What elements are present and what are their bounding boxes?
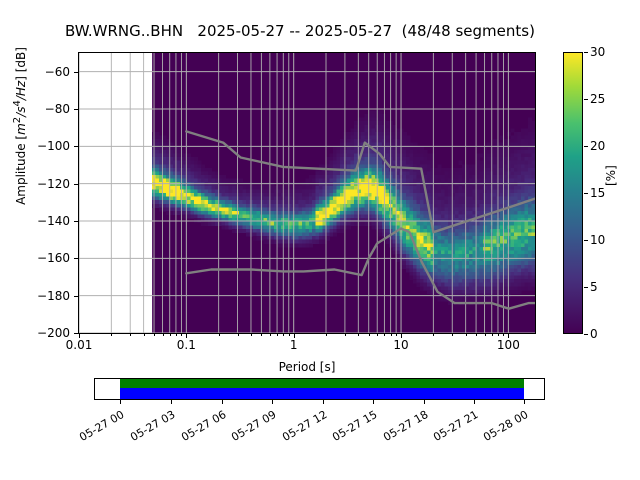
x-tick-mark	[181, 334, 182, 336]
x-tick-label: 1	[290, 338, 298, 352]
x-tick-mark	[476, 334, 477, 336]
y-tick-mark	[74, 72, 78, 73]
timeline-tick-mark	[272, 400, 273, 404]
x-tick-label: 10	[393, 338, 408, 352]
colorbar-tick-mark	[584, 52, 588, 53]
timeline-tick-mark	[424, 400, 425, 404]
colorbar-tick-label: 25	[590, 92, 605, 106]
timeline-tick-mark	[524, 400, 525, 404]
x-tick-label: 100	[497, 338, 520, 352]
x-tick-mark	[144, 334, 145, 336]
colorbar-tick-label: 15	[590, 186, 605, 200]
timeline-tick-mark	[474, 400, 475, 404]
y-tick-label: −140	[0, 214, 70, 228]
x-tick-mark	[176, 334, 177, 336]
x-tick-mark	[219, 334, 220, 336]
x-tick-mark	[270, 334, 271, 336]
ppsd-density-heatmap	[79, 53, 535, 333]
x-tick-mark	[170, 334, 171, 336]
colorbar[interactable]	[563, 52, 583, 334]
x-tick-mark	[345, 334, 346, 336]
x-tick-mark	[498, 334, 499, 336]
y-tick-mark	[74, 296, 78, 297]
x-tick-label: 0.01	[66, 338, 93, 352]
timeline-tick-mark	[120, 400, 121, 404]
x-tick-mark	[452, 334, 453, 336]
x-tick-mark	[391, 334, 392, 336]
x-tick-mark	[492, 334, 493, 336]
y-tick-mark	[74, 333, 78, 334]
y-tick-label: −120	[0, 177, 70, 191]
timeline-tick-mark	[373, 400, 374, 404]
ppsd-axes[interactable]	[78, 52, 536, 334]
y-tick-label: −100	[0, 139, 70, 153]
timeline-tick-mark	[222, 400, 223, 404]
x-tick-mark	[130, 334, 131, 336]
x-tick-mark	[466, 334, 467, 336]
ppsd-figure: BW.WRNG..BHN 2025-05-27 -- 2025-05-27 (4…	[0, 0, 640, 480]
y-tick-mark	[74, 184, 78, 185]
timeline-band-blue	[120, 388, 524, 399]
y-tick-label: −180	[0, 289, 70, 303]
timeline-tick-mark	[171, 400, 172, 404]
y-axis-label: Amplitude [m2/s4/Hz] [dB]	[12, 0, 28, 276]
colorbar-tick-label: 10	[590, 233, 605, 247]
timeline-axes[interactable]	[94, 378, 545, 400]
x-tick-mark	[283, 334, 284, 336]
y-tick-label: −60	[0, 65, 70, 79]
x-tick-mark	[111, 334, 112, 336]
y-tick-label: −200	[0, 326, 70, 340]
x-tick-label: 0.1	[177, 338, 196, 352]
colorbar-tick-mark	[584, 334, 588, 335]
y-tick-mark	[74, 221, 78, 222]
x-tick-mark	[277, 334, 278, 336]
x-tick-mark	[384, 334, 385, 336]
colorbar-tick-mark	[584, 287, 588, 288]
x-tick-mark	[369, 334, 370, 336]
x-tick-mark	[326, 334, 327, 336]
x-axis-label: Period [s]	[78, 360, 536, 374]
x-tick-mark	[377, 334, 378, 336]
colorbar-label: [%]	[604, 165, 618, 186]
colorbar-tick-mark	[584, 99, 588, 100]
x-tick-mark	[238, 334, 239, 336]
y-tick-mark	[74, 146, 78, 147]
colorbar-tick-mark	[584, 146, 588, 147]
y-tick-mark	[74, 109, 78, 110]
page-title: BW.WRNG..BHN 2025-05-27 -- 2025-05-27 (4…	[0, 22, 600, 40]
y-tick-label: −160	[0, 251, 70, 265]
colorbar-tick-mark	[584, 240, 588, 241]
y-tick-label: −80	[0, 102, 70, 116]
x-tick-mark	[485, 334, 486, 336]
x-tick-mark	[251, 334, 252, 336]
x-tick-mark	[154, 334, 155, 336]
colorbar-tick-label: 0	[590, 327, 598, 341]
colorbar-tick-label: 5	[590, 280, 598, 294]
x-tick-mark	[358, 334, 359, 336]
colorbar-tick-label: 30	[590, 45, 605, 59]
x-tick-mark	[261, 334, 262, 336]
colorbar-tick-label: 20	[590, 139, 605, 153]
x-tick-mark	[433, 334, 434, 336]
timeline-band-green	[120, 379, 524, 388]
x-tick-mark	[289, 334, 290, 336]
y-tick-mark	[74, 258, 78, 259]
colorbar-tick-mark	[584, 193, 588, 194]
x-tick-mark	[503, 334, 504, 336]
x-tick-mark	[396, 334, 397, 336]
x-tick-mark	[163, 334, 164, 336]
timeline-tick-mark	[323, 400, 324, 404]
timeline-tick-label: 05-27 00	[64, 408, 126, 451]
